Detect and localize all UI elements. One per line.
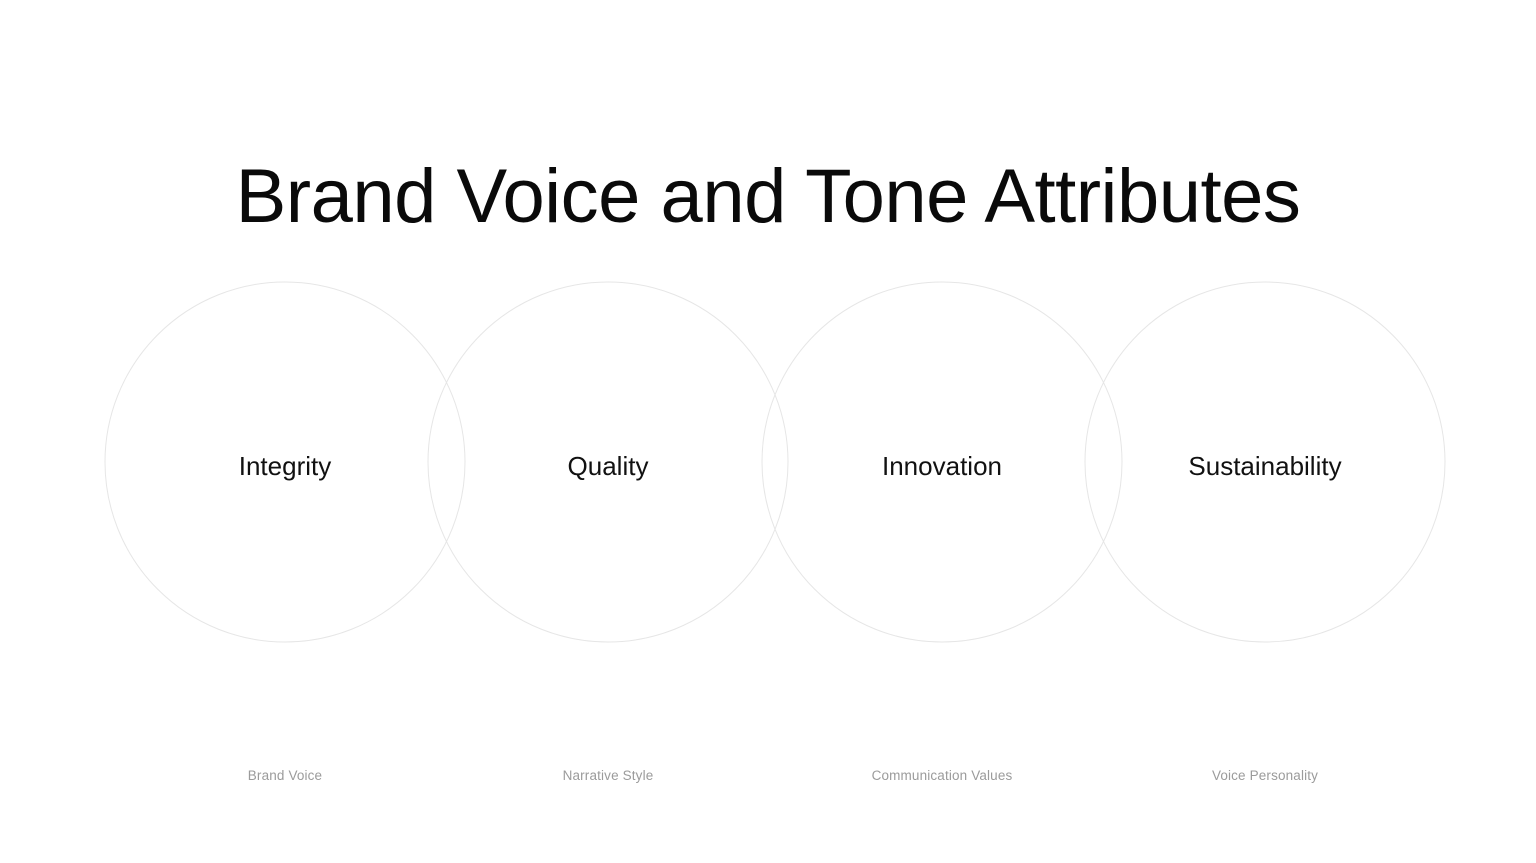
attribute-caption-communication-values: Communication Values — [762, 766, 1122, 786]
venn-diagram — [0, 0, 1536, 863]
page-title: Brand Voice and Tone Attributes — [0, 159, 1536, 235]
attribute-caption-voice-personality: Voice Personality — [1085, 766, 1445, 786]
attribute-caption-brand-voice: Brand Voice — [105, 766, 465, 786]
attribute-caption-narrative-style: Narrative Style — [428, 766, 788, 786]
attribute-label-quality: Quality — [428, 448, 788, 484]
attribute-label-sustainability: Sustainability — [1085, 448, 1445, 484]
slide-canvas: Brand Voice and Tone Attributes Integrit… — [0, 0, 1536, 863]
attribute-label-innovation: Innovation — [762, 448, 1122, 484]
attribute-label-integrity: Integrity — [105, 448, 465, 484]
